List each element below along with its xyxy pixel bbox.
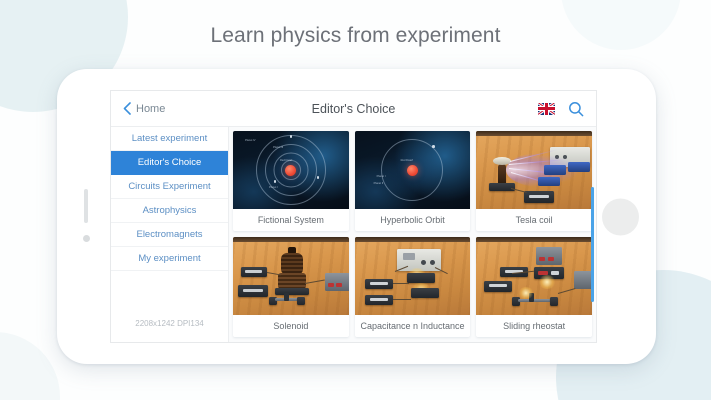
sidebar-spacer	[111, 271, 228, 319]
decorative-circle-bottom-left	[0, 332, 60, 400]
experiment-card-label: Sliding rheostat	[476, 315, 592, 337]
search-icon[interactable]	[568, 101, 584, 117]
experiment-card-label: Solenoid	[233, 315, 349, 337]
thumbnail-capacitance-inductance	[355, 237, 471, 315]
thumbnail-fictional-system: Planet IV Planet III Red Dwarf Planet I	[233, 131, 349, 209]
back-button[interactable]: Home	[123, 102, 165, 115]
app-top-bar: Home Editor's Choice	[111, 91, 596, 127]
experiment-grid: Planet IV Planet III Red Dwarf Planet I …	[233, 131, 592, 337]
phone-mockup: Home Editor's Choice	[57, 69, 656, 364]
sidebar-item-electromagnets[interactable]: Electromagnets	[111, 223, 228, 247]
experiment-grid-area: Planet IV Planet III Red Dwarf Planet I …	[229, 127, 596, 342]
sidebar-item-editors-choice[interactable]: Editor's Choice	[111, 151, 228, 175]
earpiece-speaker-icon	[84, 189, 88, 223]
grid-scrollbar-thumb[interactable]	[591, 187, 594, 302]
experiment-card-capacitance-inductance[interactable]: Capacitance n Inductance	[355, 237, 471, 337]
front-camera-icon	[83, 235, 90, 242]
orbit-label: Planet IV	[245, 139, 256, 142]
thumbnail-sliding-rheostat	[476, 237, 592, 315]
orbit-label: Planet III	[273, 146, 283, 149]
chevron-left-icon	[123, 102, 131, 115]
orbit-label: Red Dwarf	[280, 159, 292, 162]
app-screen: Home Editor's Choice	[110, 90, 597, 343]
topbar-actions	[538, 101, 584, 117]
page-title: Editor's Choice	[111, 102, 596, 116]
orbit-label: Red Dwarf	[401, 159, 413, 162]
app-body: Latest experiment Editor's Choice Circui…	[111, 127, 596, 342]
experiment-card-label: Hyperbolic Orbit	[355, 209, 471, 231]
experiment-card-sliding-rheostat[interactable]: Sliding rheostat	[476, 237, 592, 337]
sidebar-item-my-experiment[interactable]: My experiment	[111, 247, 228, 271]
thumbnail-hyperbolic-orbit: Red Dwarf Planet I Planet II	[355, 131, 471, 209]
uk-flag-icon[interactable]	[538, 103, 555, 115]
thumbnail-solenoid	[233, 237, 349, 315]
experiment-card-label: Capacitance n Inductance	[355, 315, 471, 337]
orbit-label: Planet I	[269, 186, 278, 189]
sidebar-item-latest-experiment[interactable]: Latest experiment	[111, 127, 228, 151]
experiment-card-hyperbolic-orbit[interactable]: Red Dwarf Planet I Planet II Hyperbolic …	[355, 131, 471, 231]
resolution-watermark: 2208x1242 DPI134	[111, 319, 228, 342]
experiment-card-label: Fictional System	[233, 209, 349, 231]
orbit-label: Planet I	[377, 175, 386, 178]
page-headline: Learn physics from experiment	[0, 24, 711, 48]
grid-scrollbar-track[interactable]	[591, 131, 594, 342]
home-button[interactable]	[602, 198, 639, 235]
sidebar-item-circuits-experiment[interactable]: Circuits Experiment	[111, 175, 228, 199]
star-marker	[407, 165, 418, 176]
sidebar-item-astrophysics[interactable]: Astrophysics	[111, 199, 228, 223]
category-sidebar: Latest experiment Editor's Choice Circui…	[111, 127, 229, 342]
back-label: Home	[136, 103, 165, 115]
experiment-card-fictional-system[interactable]: Planet IV Planet III Red Dwarf Planet I …	[233, 131, 349, 231]
star-marker	[285, 165, 296, 176]
experiment-card-tesla-coil[interactable]: Tesla coil	[476, 131, 592, 231]
orbit-label: Planet II	[374, 182, 384, 185]
experiment-card-solenoid[interactable]: Solenoid	[233, 237, 349, 337]
experiment-card-label: Tesla coil	[476, 209, 592, 231]
thumbnail-tesla-coil	[476, 131, 592, 209]
